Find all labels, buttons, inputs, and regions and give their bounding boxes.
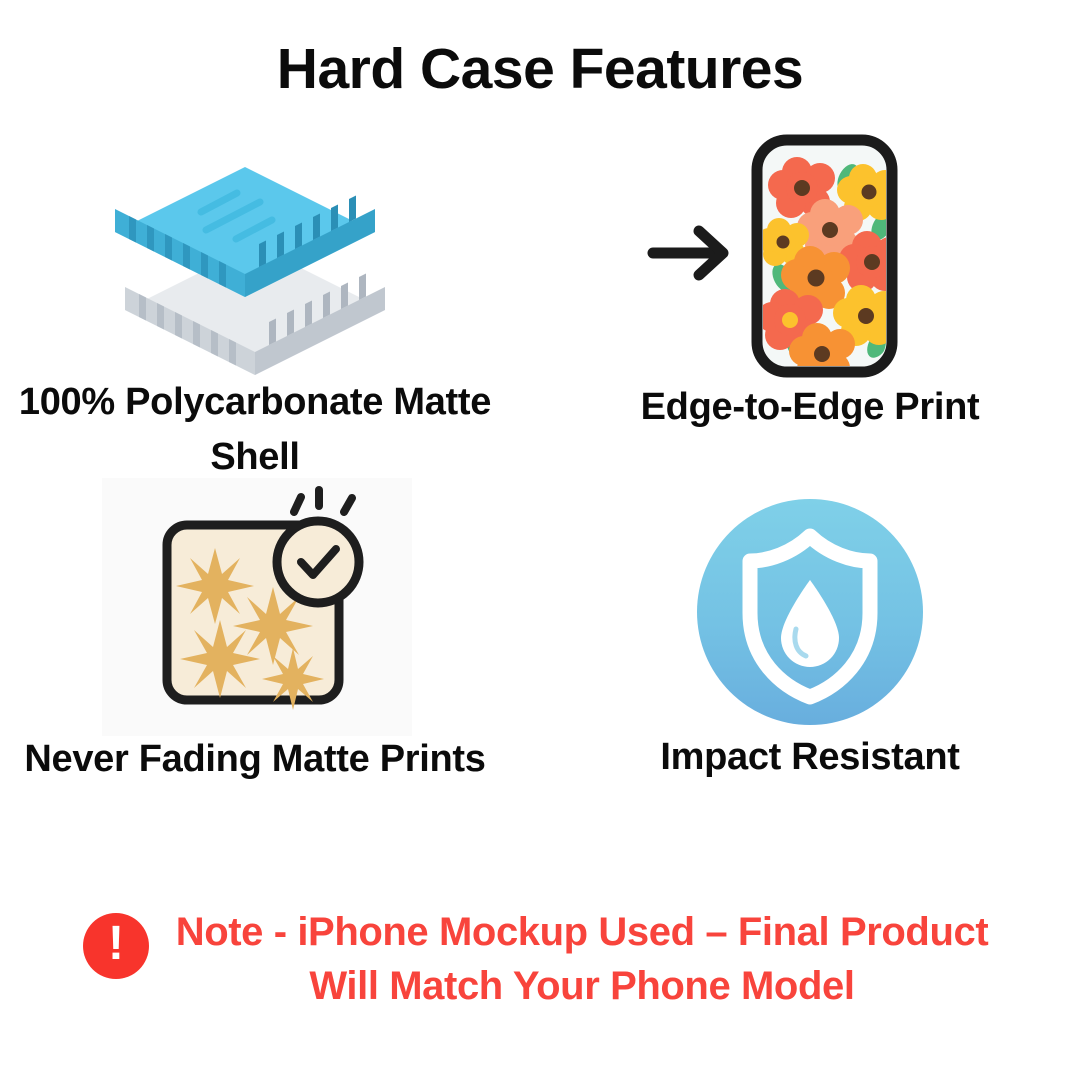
sparkle-panel-check-icon <box>105 470 405 732</box>
feature-never-fading-caption: Never Fading Matte Prints <box>5 732 505 787</box>
feature-edge-print-caption: Edge-to-Edge Print <box>560 380 1060 435</box>
feature-polycarbonate-caption: 100% Polycarbonate Matte Shell <box>5 375 505 485</box>
arrow-right-icon <box>653 231 723 275</box>
exclamation-circle-icon: ! <box>83 913 149 979</box>
layered-slab-icon <box>105 160 405 375</box>
floral-phone-case-icon <box>645 130 975 380</box>
note-text: Note - iPhone Mockup Used – Final Produc… <box>167 905 997 1013</box>
shield-droplet-icon-wrap <box>560 495 1060 730</box>
note-row: ! Note - iPhone Mockup Used – Final Prod… <box>0 905 1080 1013</box>
shield-droplet-icon <box>693 495 928 730</box>
feature-edge-print: Edge-to-Edge Print <box>560 130 1060 435</box>
feature-impact: Impact Resistant <box>560 495 1060 785</box>
page-title: Hard Case Features <box>0 36 1080 102</box>
feature-polycarbonate: 100% Polycarbonate Matte Shell <box>5 160 505 485</box>
sparkle-panel-check-icon-wrap <box>5 470 505 732</box>
badge-rays <box>294 490 352 512</box>
feature-impact-caption: Impact Resistant <box>560 730 1060 785</box>
feature-never-fading: Never Fading Matte Prints <box>5 470 505 787</box>
exclamation-glyph: ! <box>108 920 124 968</box>
floral-phone-case-icon-wrap <box>560 130 1060 380</box>
layered-slab-icon-wrap <box>5 160 505 375</box>
check-badge-circle <box>277 521 359 603</box>
